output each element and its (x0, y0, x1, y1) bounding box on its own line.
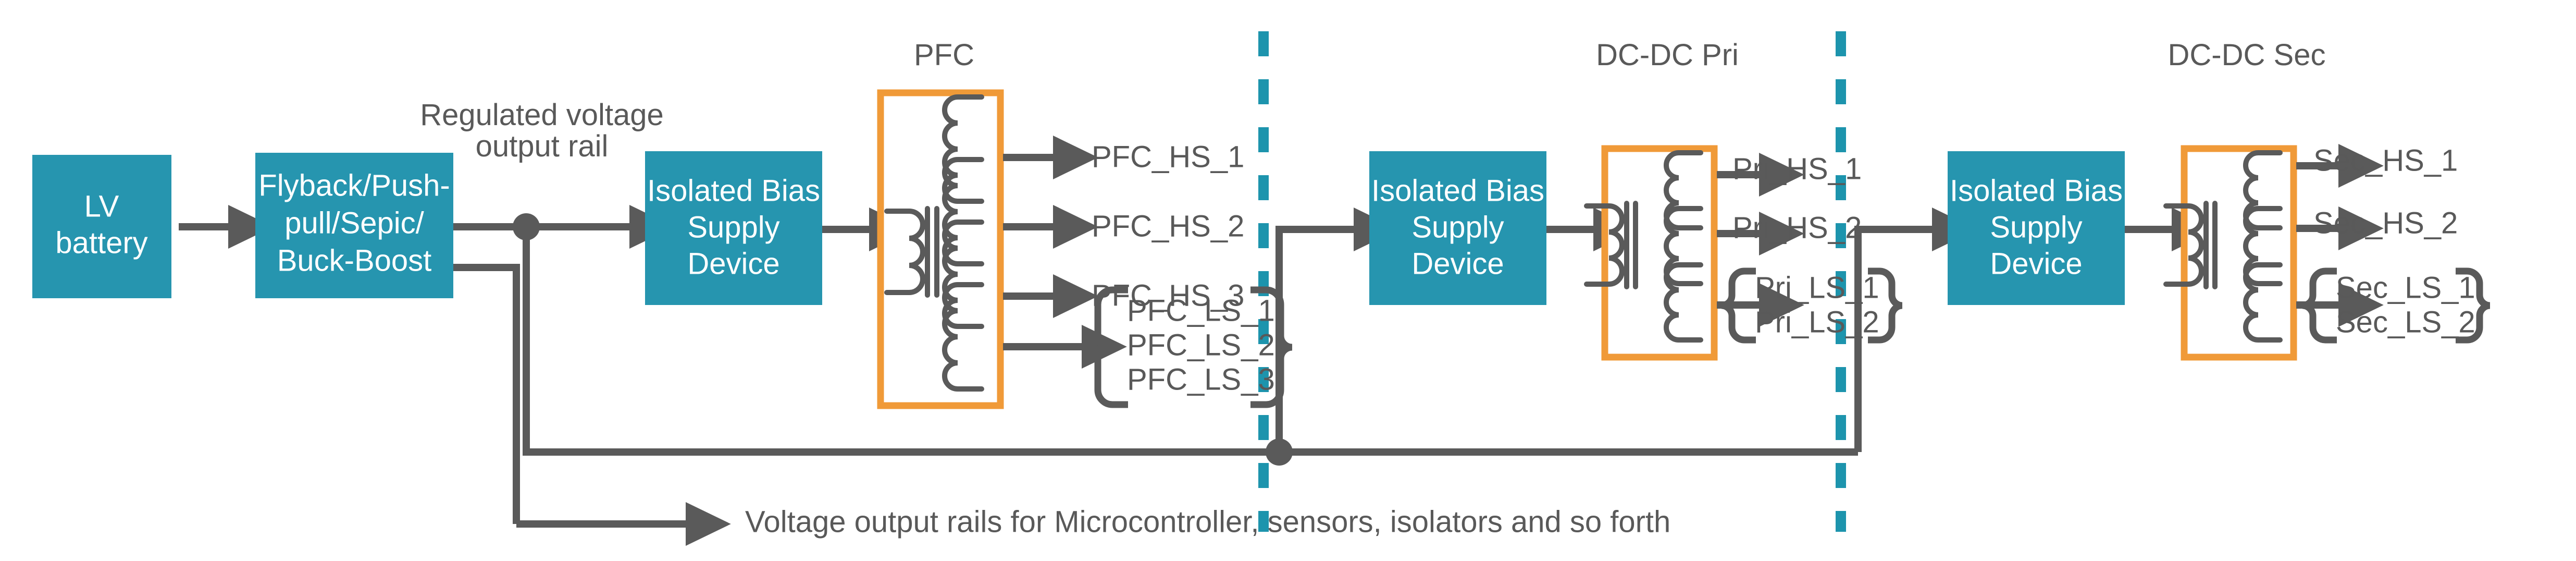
pfc-transformer-outline[interactable] (881, 93, 1000, 406)
dcdcsec-output-label-ls2: Sec_LS_2 (2336, 305, 2475, 339)
pfc-output-label-ls2: PFC_LS_2 (1127, 328, 1275, 362)
dcdcpri-output-label-hs1: Pri_HS_1 (1732, 152, 1862, 186)
bias2-label-line1: Isolated Bias (1371, 174, 1544, 208)
block-isolated-bias-supply-3[interactable]: Isolated Bias Supply Device (1948, 151, 2125, 305)
dcdcsec-output-label-ls1: Sec_LS_1 (2336, 271, 2475, 304)
stage-title-dcdc-sec: DC-DC Sec (2168, 38, 2326, 72)
dcdcsec-output-label-hs2: Sec_HS_2 (2313, 206, 2458, 240)
block-isolated-bias-supply-2[interactable]: Isolated Bias Supply Device (1369, 151, 1546, 305)
bias1-label-line3: Device (687, 247, 779, 280)
converter-label-line1: Flyback/Push- (258, 168, 450, 202)
junction-dot-rail (513, 213, 540, 240)
dcdcpri-output-label-ls2: Pri_LS_2 (1755, 305, 1879, 339)
stage-title-dcdc-pri: DC-DC Pri (1596, 38, 1739, 72)
converter-label-line3: Buck-Boost (277, 243, 432, 277)
bias1-label-line1: Isolated Bias (647, 174, 820, 208)
dcdcpri-output-label-hs2: Pri_HS_2 (1732, 211, 1862, 245)
pfc-output-label-ls3: PFC_LS_3 (1127, 362, 1275, 396)
pfc-output-wires (1003, 157, 1089, 347)
pfc-output-label-ls1: PFC_LS_1 (1127, 294, 1275, 327)
dcdcpri-output-label-ls1: Pri_LS_1 (1755, 271, 1879, 304)
wire-mcu-rail-branch (453, 267, 516, 524)
pfc-output-label-hs1: PFC_HS_1 (1092, 140, 1244, 174)
bottom-caption: Voltage output rails for Microcontroller… (745, 505, 1670, 539)
lv-battery-label-line2: battery (55, 226, 147, 260)
bias3-label-line3: Device (1990, 247, 2082, 280)
regulated-rail-note-line2: output rail (476, 129, 609, 163)
block-lv-battery[interactable]: LV battery (32, 155, 171, 298)
lv-battery-label-line1: LV (84, 189, 119, 223)
diagram-canvas: LV battery Flyback/Push- pull/Sepic/ Buc… (0, 0, 2576, 561)
power-architecture-block-diagram: LV battery Flyback/Push- pull/Sepic/ Buc… (0, 0, 2576, 561)
bias2-label-line3: Device (1411, 247, 1504, 280)
wire-bus-up-to-bias2 (1279, 229, 1331, 452)
dcdcsec-output-label-hs1: Sec_HS_1 (2313, 143, 2458, 177)
bias2-label-line2: Supply (1411, 210, 1504, 244)
bias3-label-line2: Supply (1990, 210, 2082, 244)
regulated-rail-note-line1: Regulated voltage (420, 98, 664, 132)
bias3-label-line1: Isolated Bias (1950, 174, 2123, 208)
block-converter[interactable]: Flyback/Push- pull/Sepic/ Buck-Boost (255, 153, 453, 298)
converter-label-line2: pull/Sepic/ (284, 206, 424, 240)
junction-dot-bus (1266, 438, 1293, 466)
pfc-output-label-hs2: PFC_HS_2 (1092, 209, 1244, 243)
stage-title-pfc: PFC (914, 38, 974, 72)
bias1-label-line2: Supply (687, 210, 779, 244)
block-isolated-bias-supply-1[interactable]: Isolated Bias Supply Device (645, 151, 822, 305)
